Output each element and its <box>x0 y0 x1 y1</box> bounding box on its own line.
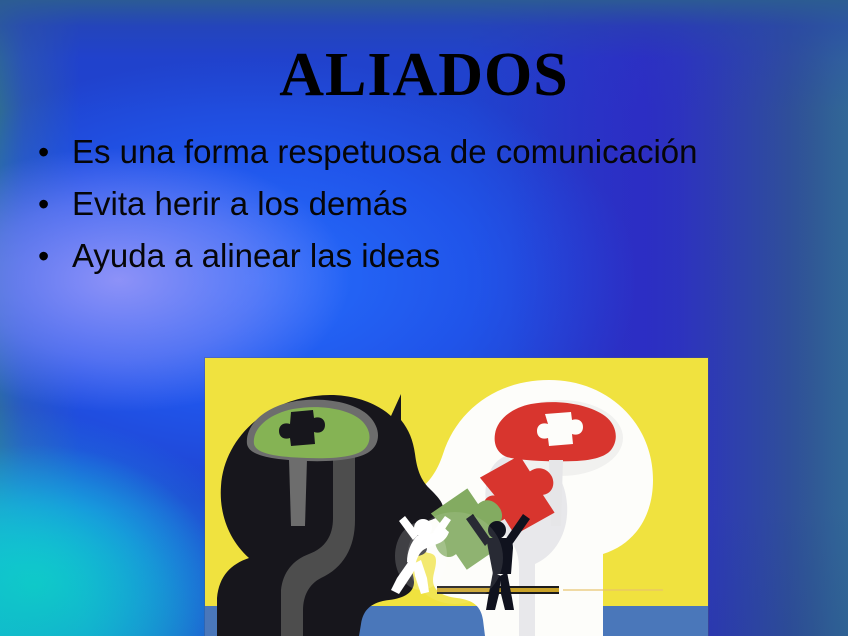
bullet-marker-icon: • <box>38 237 72 275</box>
bullet-text: Evita herir a los demás <box>72 185 408 223</box>
glow-line <box>563 589 663 591</box>
list-item: • Evita herir a los demás <box>38 185 818 223</box>
illustration-two-heads-puzzle <box>205 358 708 636</box>
bullet-marker-icon: • <box>38 133 72 171</box>
bullet-marker-icon: • <box>38 185 72 223</box>
list-item: • Es una forma respetuosa de comunicació… <box>38 133 818 171</box>
bullet-text: Ayuda a alinear las ideas <box>72 237 440 275</box>
brain-left-stem <box>289 459 307 526</box>
bullet-text: Es una forma respetuosa de comunicación <box>72 133 698 171</box>
exchange-glow <box>407 512 503 604</box>
list-item: • Ayuda a alinear las ideas <box>38 237 818 275</box>
brain-right-stem <box>549 460 563 526</box>
bullet-list: • Es una forma respetuosa de comunicació… <box>38 133 818 289</box>
two-heads-puzzle-svg <box>205 358 708 636</box>
page-title: ALIADOS <box>0 44 848 106</box>
slide: ALIADOS • Es una forma respetuosa de com… <box>0 0 848 636</box>
